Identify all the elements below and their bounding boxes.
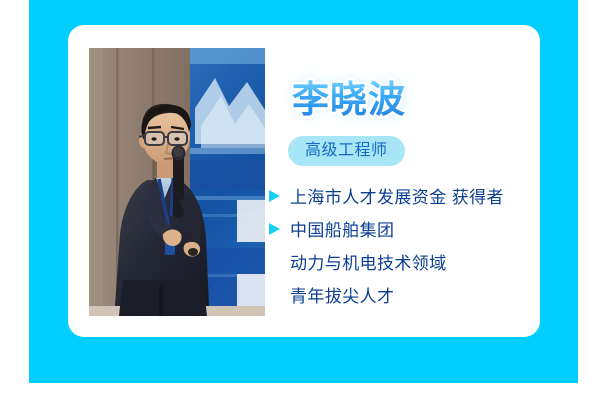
credential-text: 动力与机电技术领域	[290, 253, 447, 275]
bullet-triangle-icon	[268, 220, 290, 236]
speaker-photo-illustration	[89, 48, 265, 316]
credential-row: 上海市人才发展资金 获得者	[268, 187, 530, 220]
credential-text: 中国船舶集团	[290, 220, 394, 242]
credential-text: 青年拔尖人才	[290, 286, 394, 308]
speaker-photo	[89, 48, 265, 316]
person-name: 李晓波	[292, 78, 406, 122]
credentials-list: 上海市人才发展资金 获得者 中国船舶集团 动力与机电技术领域	[268, 187, 530, 319]
credential-row: 青年拔尖人才	[268, 286, 530, 319]
credential-text: 上海市人才发展资金 获得者	[290, 187, 504, 209]
poster-stage: 李晓波 李晓波 高级工程师 上海市人才发展资金 获得者	[0, 0, 607, 410]
profile-info: 李晓波 李晓波 高级工程师 上海市人才发展资金 获得者	[268, 51, 530, 317]
credential-row: 动力与机电技术领域	[268, 253, 530, 286]
bullet-spacer	[268, 286, 290, 288]
credential-row: 中国船舶集团	[268, 220, 530, 253]
title-badge: 高级工程师	[288, 136, 405, 166]
profile-card: 李晓波 李晓波 高级工程师 上海市人才发展资金 获得者	[68, 25, 540, 337]
person-name-wrap: 李晓波 李晓波	[292, 78, 406, 124]
bullet-triangle-icon	[268, 187, 290, 203]
bullet-spacer	[268, 253, 290, 255]
